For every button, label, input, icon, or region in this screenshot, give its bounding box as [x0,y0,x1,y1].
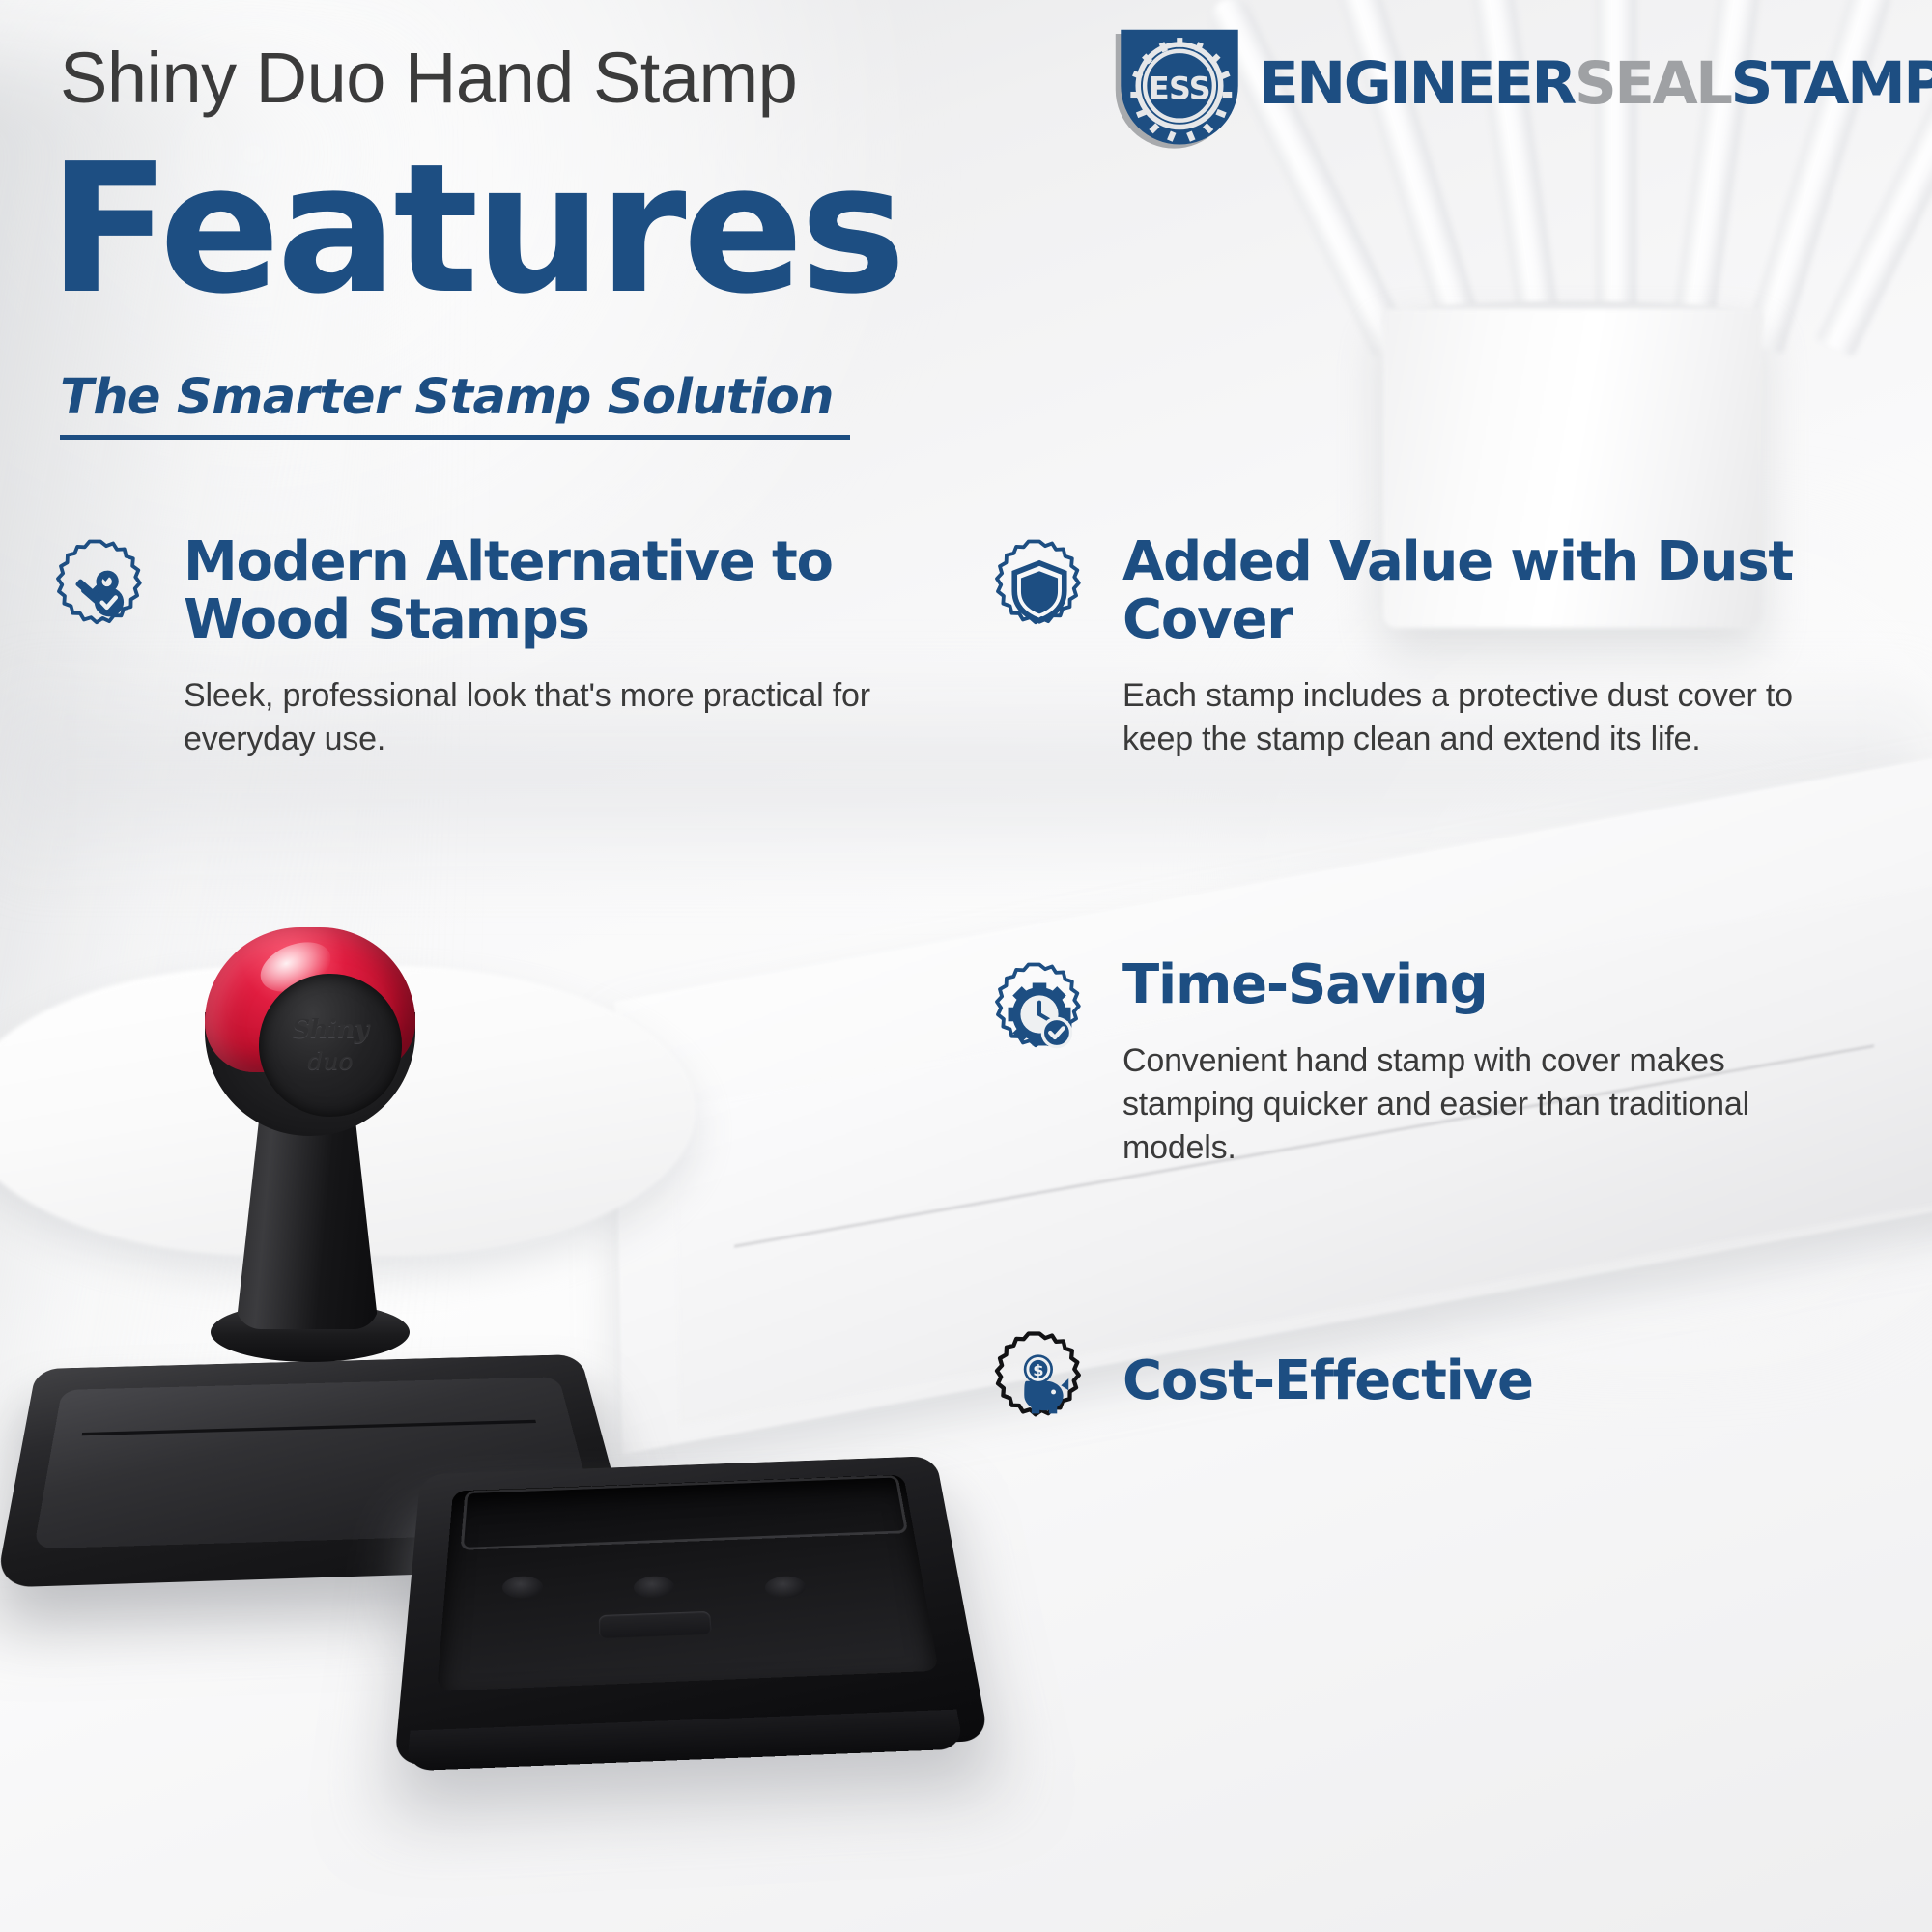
subtitle: The Smarter Stamp Solution [60,369,850,426]
feature-item-added-value: Added Value with Dust Cover Each stamp i… [985,533,1799,761]
feature-heading: Added Value with Dust Cover [1122,533,1799,649]
feature-item-modern-alternative: Modern Alternative to Wood Stamps Sleek,… [46,533,879,761]
shield-badge-icon [985,537,1094,645]
subtitle-underline [60,435,850,440]
page-title: Features [48,145,902,315]
product-title: Shiny Duo Hand Stamp [60,37,797,119]
brand-word-stamps: STAMPS [1731,49,1932,118]
subtitle-group: The Smarter Stamp Solution [60,369,850,440]
dust-cover-emboss [599,1611,712,1639]
feature-heading: Modern Alternative to Wood Stamps [184,533,879,649]
brand-word-seal: SEAL [1575,49,1731,118]
ess-shield-icon: ESS [1113,15,1246,151]
feature-text-group: Added Value with Dust Cover Each stamp i… [1122,533,1799,761]
product-photo-shiny-duo-stamp: Shiny duo [0,898,1236,1932]
brand-wordmark: ENGINEER SEAL STAMPS .COM [1259,49,1932,118]
brand-word-engineer: ENGINEER [1259,49,1575,118]
feature-body: Each stamp includes a protective dust co… [1122,674,1799,761]
feature-text-group: Modern Alternative to Wood Stamps Sleek,… [184,533,879,761]
feature-body: Sleek, professional look that's more pra… [184,674,879,761]
stamp-knob-logo-disc: Shiny duo [259,974,402,1117]
brand-logo[interactable]: ESS ENGINEER SEAL STAMPS .COM [1113,15,1932,151]
stamp-brand-duo: duo [307,1047,353,1075]
stamp-brand-shiny: Shiny [292,1015,368,1044]
svg-text:ESS: ESS [1149,72,1210,107]
wrench-check-badge-icon [46,537,155,645]
